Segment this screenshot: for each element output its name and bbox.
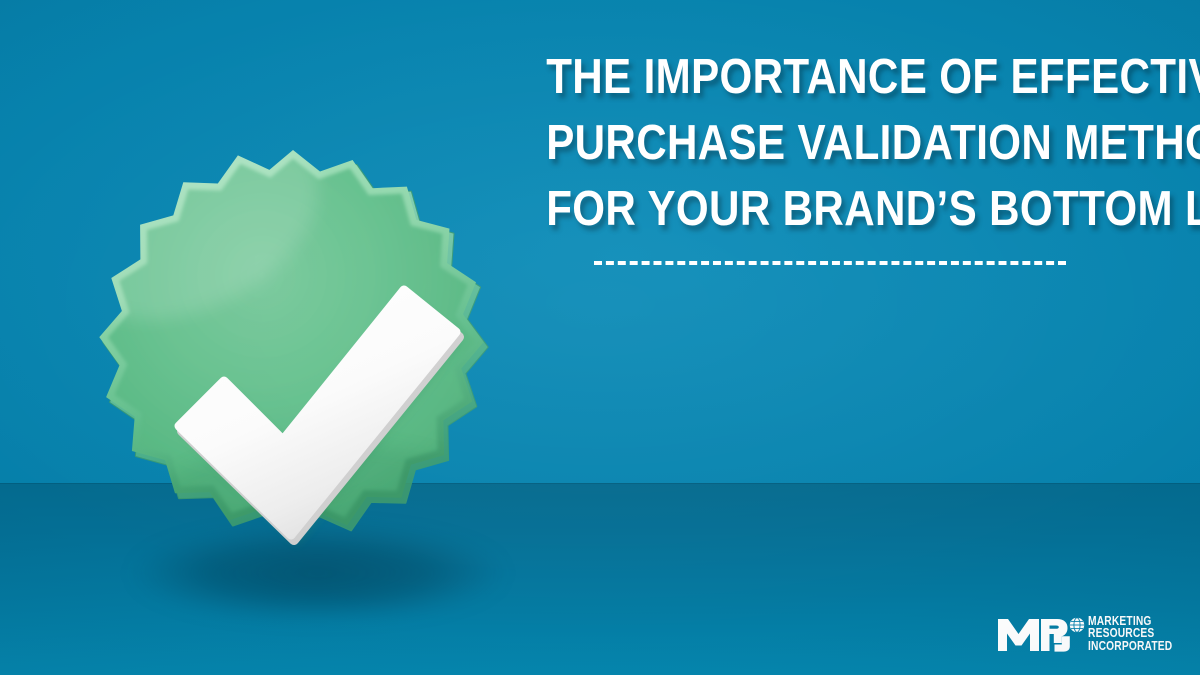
mri-wordmark: MARKETING RESOURCES INCORPORATED	[1088, 615, 1191, 653]
mri-logo[interactable]: MARKETING RESOURCES INCORPORATED	[997, 608, 1167, 658]
title-line-3: FOR YOUR BRAND’S BOTTOM LINE	[546, 176, 1114, 242]
title-line-2: PURCHASE VALIDATION METHODS	[546, 110, 1114, 176]
page-title: THE IMPORTANCE OF EFFECTIVE PURCHASE VAL…	[500, 44, 1160, 265]
title-divider	[594, 261, 1066, 265]
globe-icon	[1069, 617, 1085, 633]
badge-graphic	[78, 148, 508, 578]
logo-word-incorporated: INCORPORATED	[1088, 640, 1172, 653]
mri-monogram-icon	[997, 613, 1071, 653]
title-line-1: THE IMPORTANCE OF EFFECTIVE	[546, 44, 1114, 110]
verified-check-badge	[78, 148, 508, 578]
slide-canvas: THE IMPORTANCE OF EFFECTIVE PURCHASE VAL…	[0, 0, 1200, 675]
